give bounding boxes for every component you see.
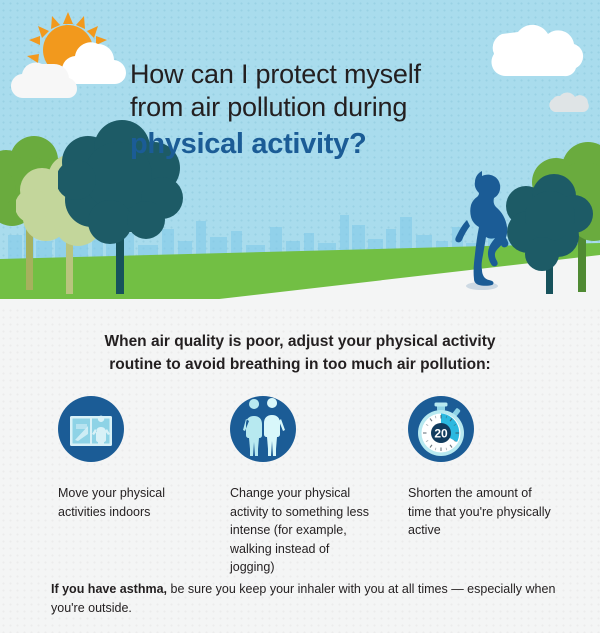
small-cloud-icon: [548, 88, 592, 112]
hero-illustration: How can I protect myself from air pollut…: [0, 0, 600, 307]
icon-circle: [58, 396, 124, 462]
advice-columns: Move your physical activities indoors Ch…: [38, 396, 566, 577]
icon-circle: 20: [408, 396, 474, 462]
two-people-walking-icon: [230, 396, 296, 462]
advice-caption: Shorten the amount of time that you're p…: [408, 484, 552, 540]
title-line-1: How can I protect myself: [130, 59, 421, 89]
infographic-page: How can I protect myself from air pollut…: [0, 0, 600, 633]
window-indoors-icon: [58, 396, 124, 462]
sun-icon: [10, 2, 145, 102]
cloud-icon: [488, 18, 592, 80]
title-emphasis: physical activity?: [130, 126, 480, 162]
advice-item-indoors: Move your physical activities indoors: [38, 396, 214, 577]
advice-caption: Change your physical activity to somethi…: [230, 484, 376, 577]
advice-item-less-intense: Change your physical activity to somethi…: [214, 396, 390, 577]
lead-line-1: When air quality is poor, adjust your ph…: [104, 333, 495, 350]
title-line-2: from air pollution during: [130, 92, 407, 122]
advice-caption: Move your physical activities indoors: [58, 484, 200, 521]
person-stretching-silhouette: [452, 170, 522, 292]
asthma-note: If you have asthma, be sure you keep you…: [51, 580, 561, 618]
icon-circle: [230, 396, 296, 462]
page-title: How can I protect myself from air pollut…: [130, 58, 480, 162]
stopwatch-icon: 20: [408, 396, 474, 462]
lead-line-2: routine to avoid breathing in too much a…: [109, 356, 490, 373]
asthma-note-bold: If you have asthma,: [51, 582, 167, 596]
stopwatch-value: 20: [434, 426, 448, 440]
lead-statement: When air quality is poor, adjust your ph…: [50, 330, 550, 376]
advice-item-shorten-time: 20 Shorten the amount of time that you'r…: [390, 396, 566, 577]
